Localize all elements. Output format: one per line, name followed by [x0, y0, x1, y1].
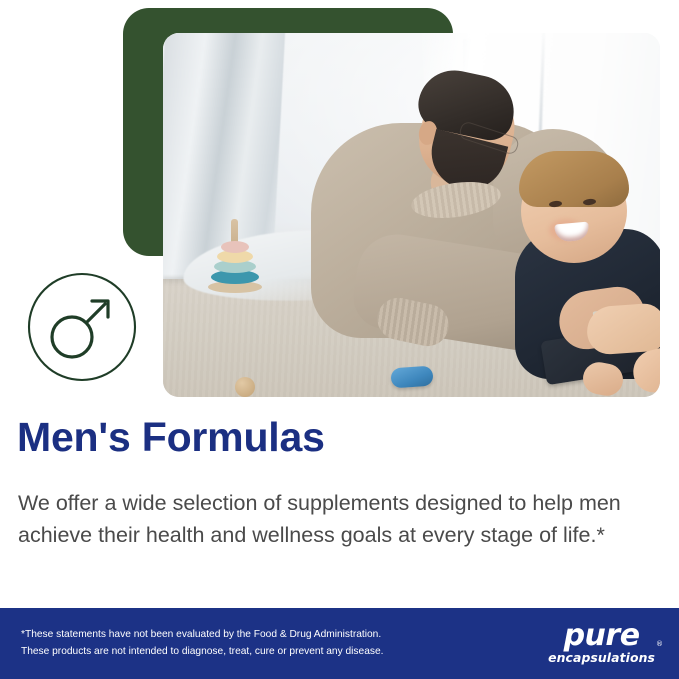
brand-logo-subtitle: encapsulations	[548, 651, 655, 665]
page-title: Men's Formulas	[17, 415, 325, 461]
toddler-hair	[519, 151, 629, 207]
brand-logo: pure encapsulations ®	[548, 622, 679, 664]
photo-background	[163, 33, 660, 397]
male-symbol-icon	[26, 271, 138, 383]
blue-toy-block	[390, 366, 433, 389]
footer-banner: *These statements have not been evaluate…	[0, 608, 679, 679]
stacking-ring-toy	[207, 219, 263, 293]
brand-logo-word: pure	[548, 622, 655, 651]
hero-photo	[163, 33, 660, 397]
registered-trademark-icon: ®	[656, 640, 663, 648]
toddler-arm	[585, 302, 660, 355]
page-description: We offer a wide selection of supplements…	[18, 488, 648, 552]
stacker-ring-pink	[221, 241, 249, 253]
wooden-ball-toy	[235, 377, 255, 397]
fda-disclaimer: *These statements have not been evaluate…	[0, 627, 383, 660]
product-category-banner: Men's Formulas We offer a wide selection…	[0, 0, 679, 679]
